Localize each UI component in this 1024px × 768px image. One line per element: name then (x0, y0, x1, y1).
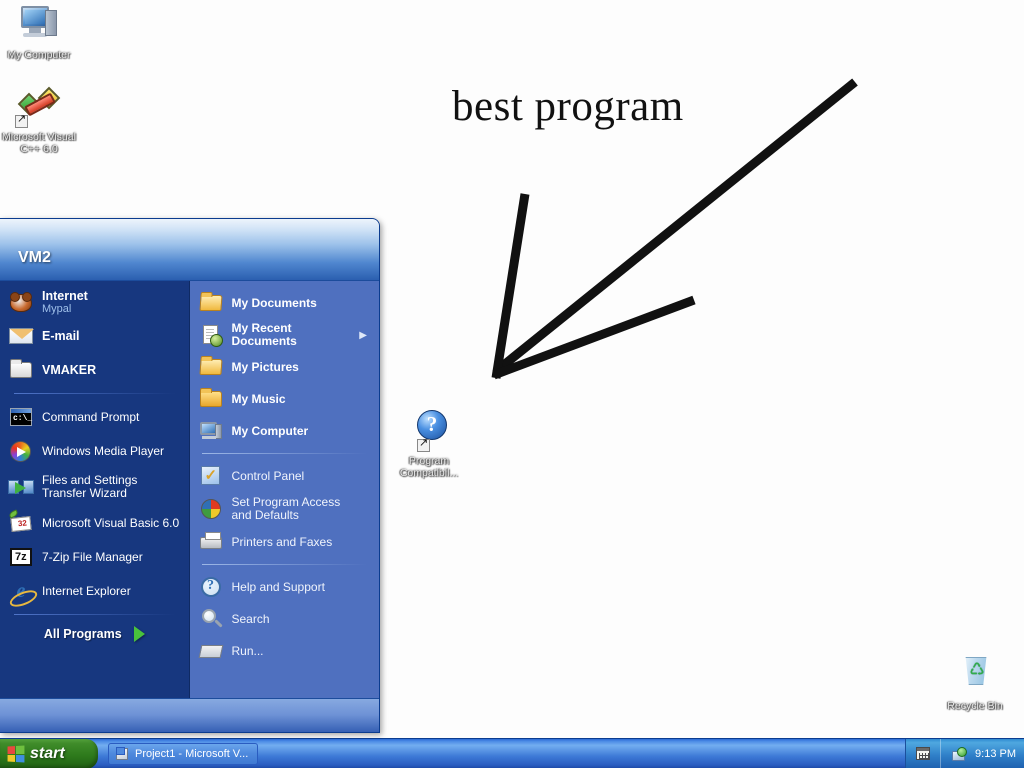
start-item-label: Control Panel (232, 470, 305, 483)
start-item-windows-media-player[interactable]: Windows Media Player (0, 434, 189, 468)
annotation-text: best program (452, 82, 684, 131)
mypal-browser-icon (8, 290, 34, 316)
desktop[interactable]: My Computer Microsoft Visual C++ 6.0 Pro… (0, 0, 1024, 768)
desktop-icon-label: Recycle Bin (936, 701, 1014, 713)
start-item-label: Printers and Faxes (232, 536, 333, 549)
desktop-icon-label: My Computer (0, 50, 78, 62)
start-item-command-prompt[interactable]: Command Prompt (0, 400, 189, 434)
help-question-icon (405, 410, 453, 454)
start-menu-right-column[interactable]: My Documents My Recent Documents ▶ My Pi… (190, 281, 380, 698)
folder-music-icon (198, 386, 224, 412)
all-programs-button[interactable]: All Programs (0, 621, 189, 647)
start-item-label: Internet Explorer (42, 585, 131, 598)
start-item-set-program-access[interactable]: Set Program Access and Defaults (190, 492, 380, 526)
desktop-icon-program-compatibility[interactable]: Program Compatibil... (390, 410, 468, 479)
folder-white-icon (8, 357, 34, 383)
chevron-right-icon (134, 626, 145, 642)
start-item-sublabel: Mypal (42, 303, 88, 316)
taskbar-button-project1[interactable]: Project1 - Microsoft V... (108, 743, 258, 765)
chevron-right-icon: ▶ (359, 330, 371, 341)
user-name: VM2 (18, 249, 51, 267)
visual-basic-icon (8, 510, 34, 536)
start-item-my-recent-documents[interactable]: My Recent Documents ▶ (190, 319, 380, 351)
start-item-label: Set Program Access and Defaults (232, 496, 362, 522)
control-panel-icon (198, 463, 224, 489)
start-item-control-panel[interactable]: Control Panel (190, 460, 380, 492)
start-item-help-and-support[interactable]: Help and Support (190, 571, 380, 603)
start-item-label: Files and Settings Transfer Wizard (42, 474, 172, 500)
start-item-label: Internet (42, 290, 88, 303)
network-tray-icon[interactable] (951, 746, 967, 762)
start-button[interactable]: start (0, 739, 98, 768)
start-item-my-documents[interactable]: My Documents (190, 287, 380, 319)
computer-icon (198, 418, 224, 444)
start-item-label: Search (232, 613, 270, 626)
all-programs-label: All Programs (44, 627, 122, 641)
start-item-label: VMAKER (42, 364, 96, 377)
taskbar-buttons[interactable]: Project1 - Microsoft V... (108, 743, 905, 765)
start-item-label: Windows Media Player (42, 445, 164, 458)
start-menu-separator (202, 564, 368, 565)
start-item-vmaker[interactable]: VMAKER (0, 353, 189, 387)
start-item-label: Run... (232, 645, 264, 658)
start-item-label: My Computer (232, 425, 309, 438)
desktop-icon-visual-cpp[interactable]: Microsoft Visual C++ 6.0 (0, 86, 78, 155)
media-player-icon (8, 438, 34, 464)
start-item-label: Command Prompt (42, 411, 139, 424)
start-item-my-music[interactable]: My Music (190, 383, 380, 415)
recycle-bin-icon: ♺ (951, 655, 999, 699)
sevenzip-icon (8, 544, 34, 570)
calendar-tray-icon[interactable] (916, 746, 932, 762)
transfer-wizard-icon (8, 474, 34, 500)
start-item-label: My Documents (232, 297, 317, 310)
folder-pictures-icon (198, 354, 224, 380)
start-item-my-pictures[interactable]: My Pictures (190, 351, 380, 383)
tray-divider (940, 739, 941, 768)
start-menu-separator (14, 614, 175, 615)
internet-explorer-icon: e (8, 578, 34, 604)
start-item-search[interactable]: Search (190, 603, 380, 635)
start-item-files-settings-transfer-wizard[interactable]: Files and Settings Transfer Wizard (0, 468, 189, 506)
desktop-icon-recycle-bin[interactable]: ♺ Recycle Bin (936, 655, 1014, 713)
start-menu-left-column[interactable]: Internet Mypal E-mail VMAKER (0, 281, 190, 698)
visual-cpp-icon (15, 86, 63, 130)
start-item-internet-explorer[interactable]: e Internet Explorer (0, 574, 189, 608)
magnifier-icon (198, 606, 224, 632)
recent-documents-icon (198, 322, 224, 348)
start-item-label: My Music (232, 393, 286, 406)
shortcut-arrow-icon (15, 115, 28, 128)
start-item-label: 7-Zip File Manager (42, 551, 143, 564)
computer-icon (15, 4, 63, 48)
shortcut-arrow-icon (417, 439, 430, 452)
start-menu-footer (0, 698, 379, 733)
help-circle-icon (198, 574, 224, 600)
command-prompt-icon (8, 404, 34, 430)
start-item-email[interactable]: E-mail (0, 319, 189, 353)
start-button-label: start (30, 745, 65, 763)
run-window-icon (198, 638, 224, 664)
start-item-label: Help and Support (232, 581, 325, 594)
start-item-run[interactable]: Run... (190, 635, 380, 667)
start-item-label: My Recent Documents (232, 322, 360, 348)
start-menu-header: VM2 (0, 219, 379, 281)
start-item-my-computer[interactable]: My Computer (190, 415, 380, 447)
start-item-label: E-mail (42, 330, 80, 343)
start-item-internet[interactable]: Internet Mypal (0, 287, 189, 319)
desktop-icon-label: Program Compatibil... (390, 456, 468, 479)
system-tray[interactable]: 9:13 PM (905, 739, 1024, 768)
start-item-printers-and-faxes[interactable]: Printers and Faxes (190, 526, 380, 558)
printer-icon (198, 529, 224, 555)
taskbar-clock[interactable]: 9:13 PM (975, 748, 1016, 760)
start-menu-separator (202, 453, 368, 454)
start-item-label: My Pictures (232, 361, 299, 374)
start-menu[interactable]: VM2 Internet Mypal E-mail (0, 218, 380, 733)
windows-logo-icon (8, 745, 25, 762)
taskbar[interactable]: start Project1 - Microsoft V... 9:13 PM (0, 738, 1024, 768)
start-item-label: Microsoft Visual Basic 6.0 (42, 517, 179, 530)
start-item-7zip[interactable]: 7-Zip File Manager (0, 540, 189, 574)
taskbar-button-label: Project1 - Microsoft V... (135, 748, 248, 760)
folder-documents-icon (198, 290, 224, 316)
program-defaults-icon (198, 496, 224, 522)
vb-project-icon (115, 747, 130, 761)
envelope-icon (8, 323, 34, 349)
desktop-icon-label: Microsoft Visual C++ 6.0 (0, 132, 78, 155)
desktop-icon-my-computer[interactable]: My Computer (0, 4, 78, 62)
start-item-visual-basic[interactable]: Microsoft Visual Basic 6.0 (0, 506, 189, 540)
start-menu-separator (14, 393, 175, 394)
